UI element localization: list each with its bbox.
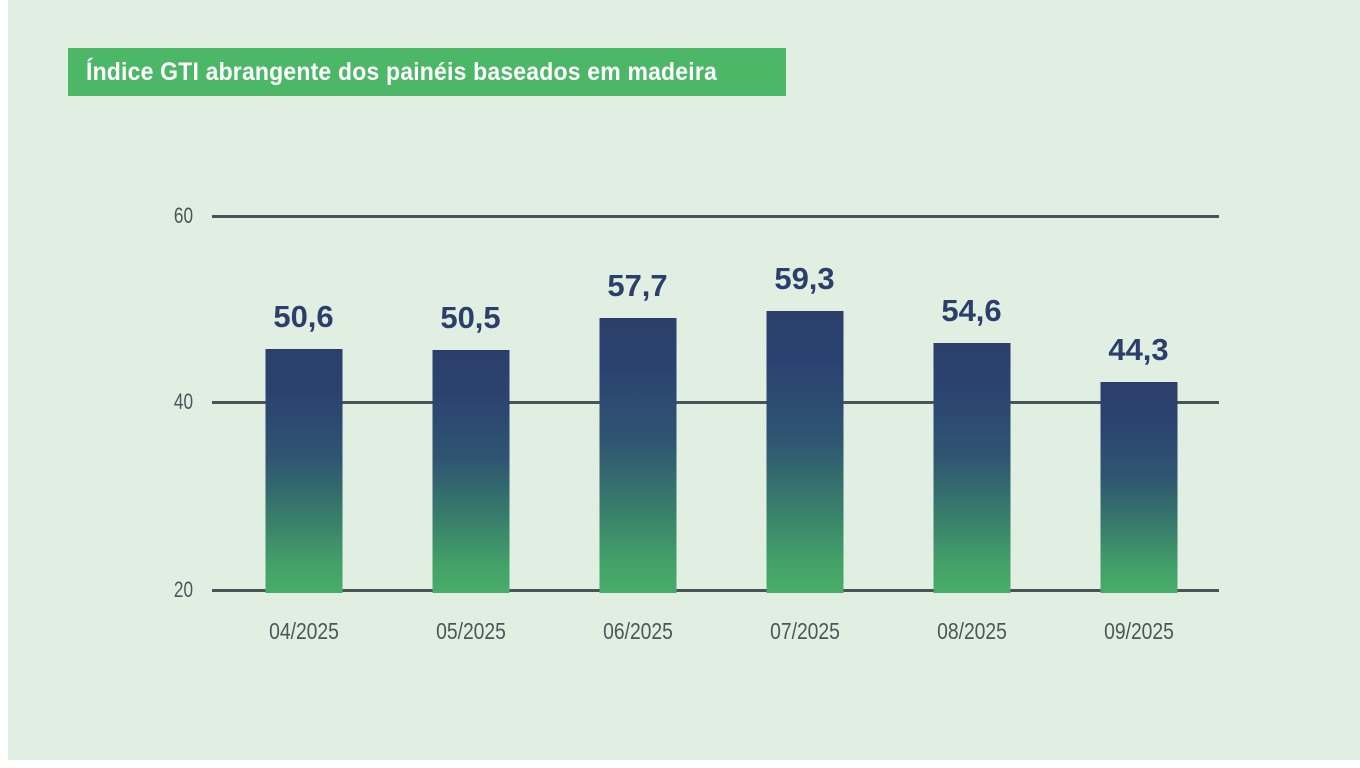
y-axis-tick-20: 20 [93,577,193,603]
x-axis-tick-2: 06/2025 [596,618,679,645]
x-axis-tick-3: 07/2025 [763,618,846,645]
bar-value-label-1: 50,5 [440,300,500,336]
x-axis-tick-2-label: 06/2025 [603,618,673,645]
bar-0[interactable] [265,349,342,593]
x-axis-tick-1: 05/2025 [429,618,512,645]
x-axis-tick-5-label: 09/2025 [1104,618,1174,645]
bar-value-label-5: 44,3 [1108,332,1168,368]
y-axis-tick-60: 60 [93,203,193,229]
bar-5[interactable] [1100,382,1177,593]
x-axis-tick-1-label: 05/2025 [436,618,506,645]
x-axis-tick-0: 04/2025 [262,618,345,645]
bar-group-4: 54,6 08/2025 [888,216,1055,591]
bar-value-label-4: 54,6 [941,293,1001,329]
bar-group-0: 50,6 04/2025 [220,216,387,591]
bar-group-2: 57,7 06/2025 [554,216,721,591]
y-axis-tick-60-label: 60 [138,203,193,229]
x-axis-tick-4-label: 08/2025 [937,618,1007,645]
x-axis-tick-0-label: 04/2025 [269,618,339,645]
bar-value-label-0: 50,6 [273,299,333,335]
bar-value-label-2: 57,7 [607,268,667,304]
y-axis-tick-40: 40 [93,389,193,415]
bar-2[interactable] [599,318,676,593]
y-axis-tick-20-label: 20 [138,577,193,603]
bar-chart: 60 40 20 50,6 04/2025 50,5 05/2025 [8,0,1360,760]
bar-value-label-3: 59,3 [774,261,834,297]
chart-page: Índice GTI abrangente dos painéis basead… [0,0,1360,768]
x-axis-tick-5: 09/2025 [1097,618,1180,645]
bar-1[interactable] [432,350,509,593]
x-axis-tick-3-label: 07/2025 [770,618,840,645]
bar-4[interactable] [933,343,1010,593]
bar-group-3: 59,3 07/2025 [721,216,888,591]
y-axis-tick-40-label: 40 [138,389,193,415]
bar-group-5: 44,3 09/2025 [1055,216,1222,591]
x-axis-tick-4: 08/2025 [930,618,1013,645]
bar-group-1: 50,5 05/2025 [387,216,554,591]
plot-area: 50,6 04/2025 50,5 05/2025 57,7 06/2025 5… [220,216,1220,591]
chart-canvas: Índice GTI abrangente dos painéis basead… [8,0,1360,760]
bar-3[interactable] [766,311,843,593]
